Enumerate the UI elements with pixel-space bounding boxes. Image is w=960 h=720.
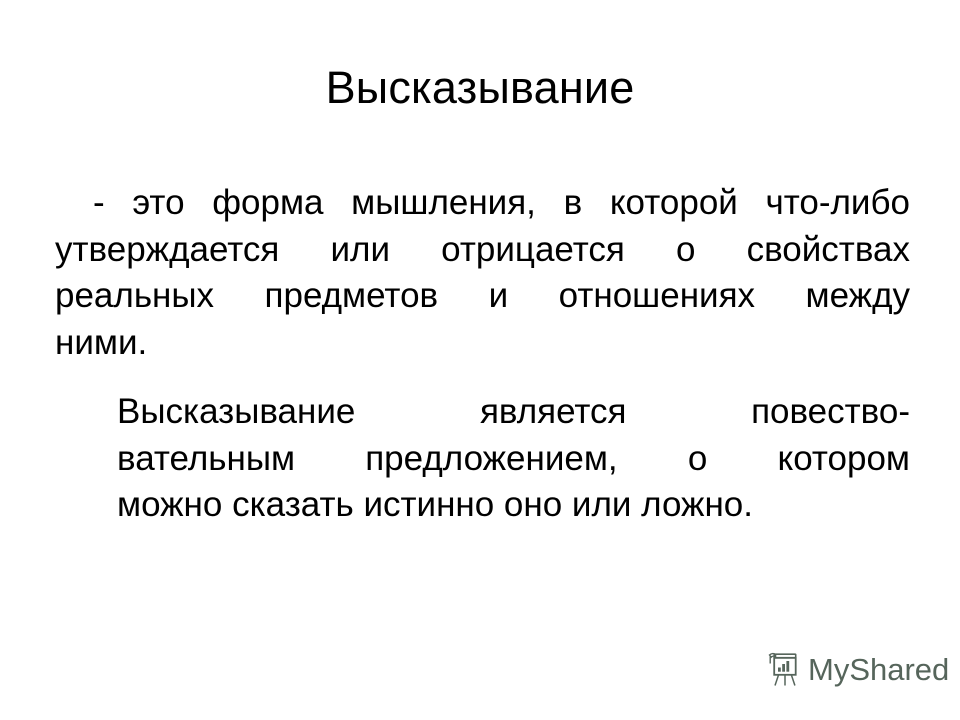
paragraph-statement: Высказывание является повество- вательны… xyxy=(55,389,910,529)
text-line: вательным предложением, о котором xyxy=(55,436,910,483)
page-title: Высказывание xyxy=(0,62,960,114)
text-line: - это форма мышления, в которой что-либо xyxy=(93,180,910,227)
text-line: можно сказать истинно оно или ложно. xyxy=(55,482,910,529)
text-line: утверждается или отрицается о свойствах xyxy=(93,227,910,274)
text-line: реальных предметов и отношениях между xyxy=(93,273,910,320)
paragraph-definition: - это форма мышления, в которой что-либо… xyxy=(55,180,910,366)
flipchart-chart-icon xyxy=(766,652,800,688)
slide-canvas: Высказывание - это форма мышления, в кот… xyxy=(0,0,960,720)
slide-body: - это форма мышления, в которой что-либо… xyxy=(55,180,910,529)
text-line: Высказывание является повество- xyxy=(55,389,910,436)
myshared-watermark[interactable]: MyShared xyxy=(766,652,949,688)
myshared-label: MyShared xyxy=(808,653,949,687)
text-line: ними. xyxy=(93,320,910,367)
